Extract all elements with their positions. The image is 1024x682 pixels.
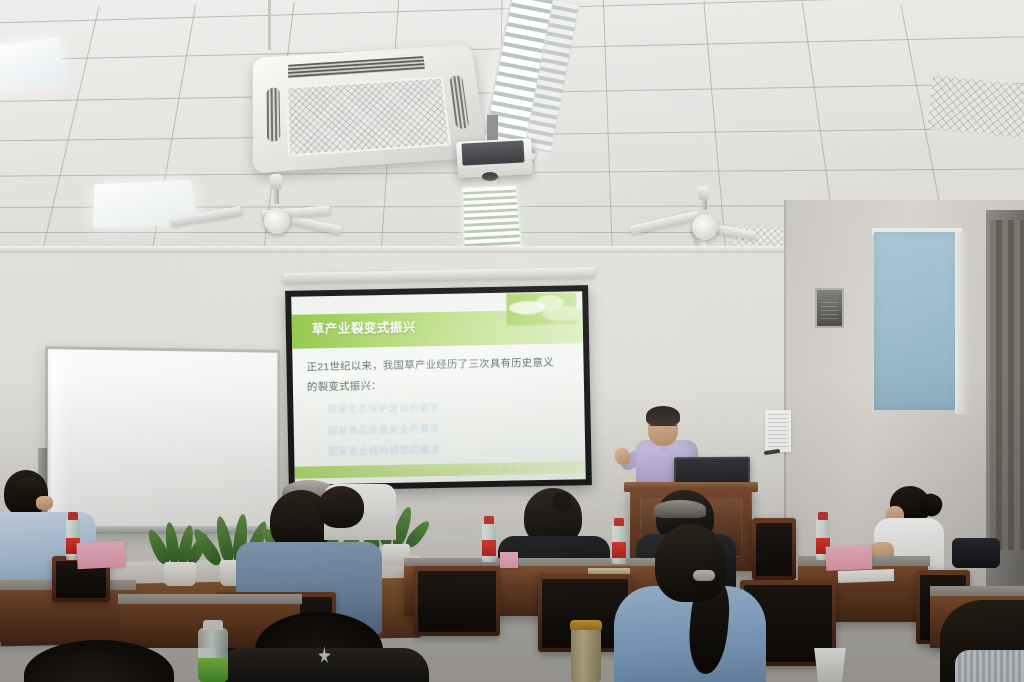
air-conditioner-unit xyxy=(253,44,488,173)
desk-surface xyxy=(118,594,302,604)
chair[interactable] xyxy=(414,566,500,636)
bottle-cap xyxy=(614,518,624,526)
name-card xyxy=(500,552,518,568)
name-card xyxy=(76,541,125,569)
desk-surface xyxy=(930,586,1024,596)
thermos-flask[interactable] xyxy=(571,624,601,682)
conference-room-photo: 草产业裂变式振兴 正21世纪以来，我国草产业经历了三次具有历史意义 的裂变式振兴… xyxy=(0,0,1024,682)
window-frame xyxy=(955,232,969,414)
presentation-slide: 草产业裂变式振兴 正21世纪以来，我国草产业经历了三次具有历史意义 的裂变式振兴… xyxy=(291,291,586,485)
bottle-cap xyxy=(484,516,494,524)
presenter-glasses xyxy=(650,425,677,432)
chair[interactable] xyxy=(752,518,796,580)
presenter-hair xyxy=(646,406,680,426)
foreground-black-shirt xyxy=(214,648,429,682)
ac-suspension-rod xyxy=(268,0,271,50)
ceiling-light-grille xyxy=(927,75,1024,139)
paper-cup[interactable] xyxy=(812,648,848,682)
slide-body-line-1: 正21世纪以来，我国草产业经历了三次具有历史意义 xyxy=(306,354,554,374)
foreground-right-striped-shirt xyxy=(955,650,1024,682)
projector-mechanism xyxy=(461,140,524,165)
window-roller-blind[interactable] xyxy=(874,232,958,410)
slide-bullet-3: 国家农业结构转型的需求 xyxy=(328,442,440,458)
curtain[interactable] xyxy=(990,220,1024,550)
foreground-woman-torso xyxy=(614,586,766,682)
ceiling-fan-left xyxy=(228,182,348,242)
papers-on-desk xyxy=(838,569,894,583)
slide-bullet-2: 国家食品质量安全的需求 xyxy=(328,421,440,437)
slide-body-line-2: 的裂变式振兴： xyxy=(307,377,382,393)
bottle-cap xyxy=(68,512,78,520)
slide-bullet-1: 国家生态保护建设的需求 xyxy=(327,400,439,416)
water-bottle[interactable] xyxy=(612,524,626,564)
bottle-cap xyxy=(818,512,828,520)
name-card xyxy=(826,545,873,571)
name-card-text xyxy=(826,545,873,571)
projector-lens xyxy=(482,172,498,181)
name-card-text xyxy=(76,541,125,569)
bottle-cap xyxy=(203,620,223,630)
bag-on-desk xyxy=(952,538,1000,568)
water-bottle[interactable] xyxy=(198,628,228,682)
ceiling-light-panel xyxy=(0,37,65,93)
ceiling-fan-right xyxy=(650,192,770,252)
thermos-cap[interactable] xyxy=(570,620,602,630)
water-bottle[interactable] xyxy=(482,522,496,562)
slide-title: 草产业裂变式振兴 xyxy=(312,316,416,337)
posted-notice-paper xyxy=(765,410,791,452)
ceiling-wall-edge xyxy=(0,246,800,253)
attendee-behind-head xyxy=(318,486,364,528)
fluorescent-light-panel xyxy=(461,184,523,252)
wall-speaker-grille xyxy=(815,288,844,328)
leaf-decoration-icon xyxy=(506,292,577,325)
projection-screen: 草产业裂变式振兴 正21世纪以来，我国草产业经历了三次具有历史意义 的裂变式振兴… xyxy=(285,285,592,491)
